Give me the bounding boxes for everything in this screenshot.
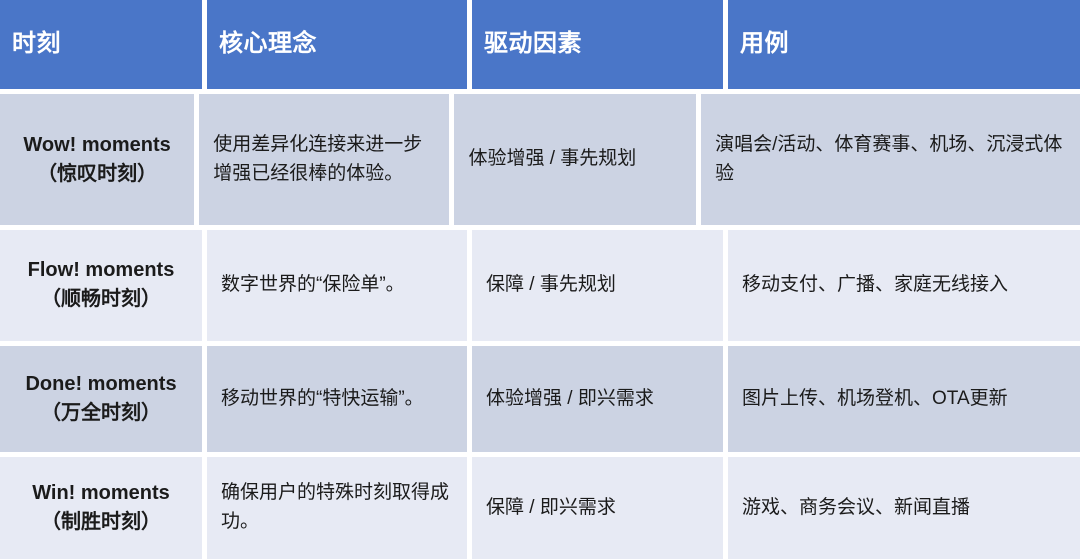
core-idea-text: 移动世界的“特快运输”。 [221,385,424,414]
core-idea-text: 数字世界的“保险单”。 [221,271,405,300]
cell-core-idea: 移动世界的“特快运输”。 [207,346,467,452]
header-label-driver: 驱动因素 [484,30,582,59]
header-cell-driver: 驱动因素 [472,0,723,89]
cell-driver: 保障 / 即兴需求 [472,457,723,559]
driver-text: 保障 / 事先规划 [486,271,616,300]
cell-driver: 体验增强 / 即兴需求 [472,346,723,452]
table-row: Done! moments （万全时刻） 移动世界的“特快运输”。 体验增强 /… [0,346,1080,452]
cell-use-cases: 图片上传、机场登机、OTA更新 [728,346,1080,452]
cell-moment: Wow! moments （惊叹时刻） [0,94,194,225]
moment-name-en: Wow! moments [23,134,170,156]
header-label-core-idea: 核心理念 [219,30,317,59]
use-cases-text: 图片上传、机场登机、OTA更新 [742,385,1008,414]
moment-name: Done! moments （万全时刻） [25,370,176,428]
core-idea-text: 确保用户的特殊时刻取得成功。 [221,479,453,536]
header-cell-core-idea: 核心理念 [207,0,467,89]
cell-use-cases: 移动支付、广播、家庭无线接入 [728,230,1080,341]
use-cases-text: 演唱会/活动、体育赛事、机场、沉浸式体验 [715,131,1066,188]
moment-name-cn: （惊叹时刻） [23,160,170,189]
cell-driver: 保障 / 事先规划 [472,230,723,341]
cell-moment: Flow! moments （顺畅时刻） [0,230,202,341]
table-row: Wow! moments （惊叹时刻） 使用差异化连接来进一步增强已经很棒的体验… [0,94,1080,225]
moment-name-en: Done! moments [25,373,176,395]
moments-comparison-table: 时刻 核心理念 驱动因素 用例 Wow! moments （惊叹时刻） 使用差异… [0,0,1080,559]
moment-name-cn: （顺畅时刻） [28,285,175,314]
header-label-use-cases: 用例 [740,30,789,59]
driver-text: 体验增强 / 事先规划 [468,145,636,174]
moment-name: Wow! moments （惊叹时刻） [23,131,170,189]
table-row: Flow! moments （顺畅时刻） 数字世界的“保险单”。 保障 / 事先… [0,230,1080,341]
cell-core-idea: 确保用户的特殊时刻取得成功。 [207,457,467,559]
use-cases-text: 移动支付、广播、家庭无线接入 [742,271,1008,300]
cell-core-idea: 使用差异化连接来进一步增强已经很棒的体验。 [199,94,449,225]
moment-name-cn: （万全时刻） [25,399,176,428]
use-cases-text: 游戏、商务会议、新闻直播 [742,494,970,523]
moment-name-en: Flow! moments [28,259,175,281]
moment-name: Win! moments （制胜时刻） [32,479,170,537]
moment-name: Flow! moments （顺畅时刻） [28,256,175,314]
cell-use-cases: 演唱会/活动、体育赛事、机场、沉浸式体验 [701,94,1080,225]
cell-core-idea: 数字世界的“保险单”。 [207,230,467,341]
cell-moment: Win! moments （制胜时刻） [0,457,202,559]
cell-use-cases: 游戏、商务会议、新闻直播 [728,457,1080,559]
table-header-row: 时刻 核心理念 驱动因素 用例 [0,0,1080,89]
header-cell-use-cases: 用例 [728,0,1080,89]
table-row: Win! moments （制胜时刻） 确保用户的特殊时刻取得成功。 保障 / … [0,457,1080,559]
driver-text: 保障 / 即兴需求 [486,494,616,523]
moment-name-cn: （制胜时刻） [32,508,170,537]
cell-driver: 体验增强 / 事先规划 [454,94,696,225]
header-label-moment: 时刻 [12,30,61,59]
driver-text: 体验增强 / 即兴需求 [486,385,654,414]
header-cell-moment: 时刻 [0,0,202,89]
moment-name-en: Win! moments [32,482,170,504]
core-idea-text: 使用差异化连接来进一步增强已经很棒的体验。 [213,131,435,188]
cell-moment: Done! moments （万全时刻） [0,346,202,452]
